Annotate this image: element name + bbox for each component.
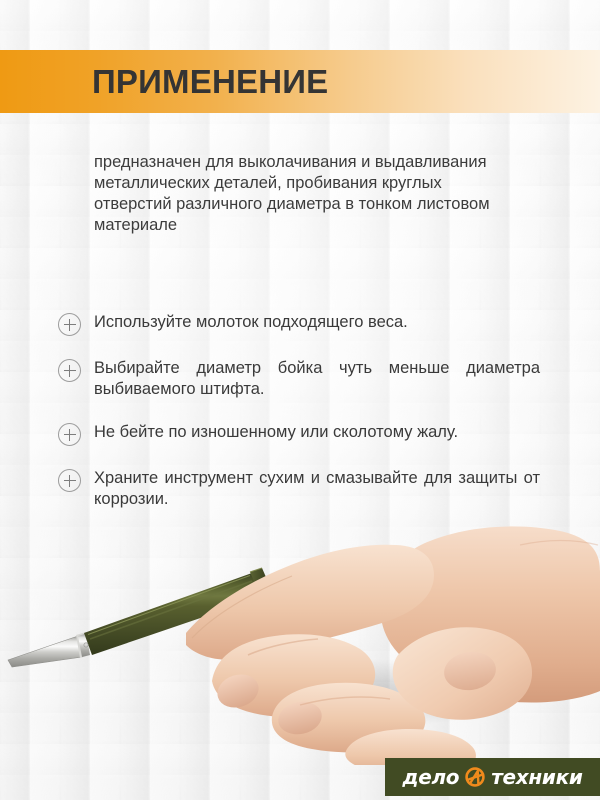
product-infographic-page: ПРИМЕНЕНИЕ предназначен для выколачивани… — [0, 0, 600, 800]
list-item-label: Используйте молоток подходящего веса. — [94, 312, 540, 333]
list-item-label: Выбирайте диаметр бойка чуть меньше диам… — [94, 358, 540, 400]
intro-paragraph: предназначен для выколачивания и выдавли… — [94, 152, 514, 236]
plus-circle-icon — [58, 359, 81, 382]
list-item: Выбирайте диаметр бойка чуть меньше диам… — [58, 358, 540, 400]
list-item-label: Храните инструмент сухим и смазывайте дл… — [94, 468, 540, 510]
list-item: Храните инструмент сухим и смазывайте дл… — [58, 468, 540, 510]
hand-holding-punch-image — [0, 505, 600, 765]
list-item: Не бейте по изношенному или сколотому жа… — [58, 422, 540, 446]
tips-list: Используйте молоток подходящего веса. Вы… — [58, 312, 540, 510]
plus-circle-icon — [58, 469, 81, 492]
brand-logo-word-right: техники — [491, 767, 582, 787]
brand-logo: дело техники — [385, 758, 600, 796]
list-item-label: Не бейте по изношенному или сколотому жа… — [94, 422, 540, 443]
page-title: ПРИМЕНЕНИЕ — [92, 63, 328, 101]
plus-circle-icon — [58, 313, 81, 336]
circled-a-icon — [463, 765, 487, 789]
brand-logo-word-left: дело — [402, 767, 459, 787]
plus-circle-icon — [58, 423, 81, 446]
header-banner: ПРИМЕНЕНИЕ — [0, 50, 600, 113]
list-item: Используйте молоток подходящего веса. — [58, 312, 540, 336]
